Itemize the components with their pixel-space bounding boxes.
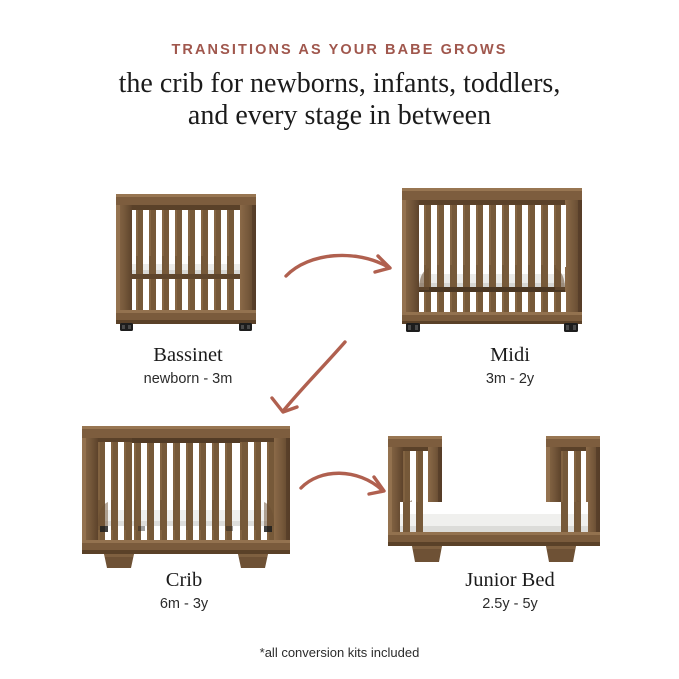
page-title: the crib for newborns, infants, toddlers…: [0, 68, 679, 132]
arrow-crib-to-junior-icon: [298, 462, 394, 512]
crib-illustration: [76, 422, 296, 570]
arrow-bassinet-to-midi-icon: [283, 243, 401, 295]
eyebrow-text: TRANSITIONS AS YOUR BABE GROWS: [0, 42, 679, 58]
caption-junior-bed: Junior Bed 2.5y - 5y: [390, 568, 630, 614]
stage-age-midi: 3m - 2y: [390, 369, 630, 389]
junior-bed-illustration: [378, 426, 610, 570]
caster: [120, 323, 252, 331]
headline-line-2: and every stage in between: [0, 100, 679, 132]
headline-line-1: the crib for newborns, infants, toddlers…: [0, 68, 679, 100]
infographic-page: TRANSITIONS AS YOUR BABE GROWS the crib …: [0, 0, 679, 679]
stage-age-crib: 6m - 3y: [64, 594, 304, 614]
caption-crib: Crib 6m - 3y: [64, 568, 304, 614]
arrow-midi-to-crib-icon: [252, 336, 348, 426]
footnote-text: *all conversion kits included: [0, 645, 679, 660]
midi-crib-illustration: [398, 182, 586, 334]
stage-title-crib: Crib: [64, 568, 304, 592]
caption-midi: Midi 3m - 2y: [390, 343, 630, 389]
stage-age-junior: 2.5y - 5y: [390, 594, 630, 614]
caster: [406, 323, 578, 332]
stage-title-midi: Midi: [390, 343, 630, 367]
bassinet-illustration: [110, 186, 262, 334]
stage-title-junior: Junior Bed: [390, 568, 630, 592]
